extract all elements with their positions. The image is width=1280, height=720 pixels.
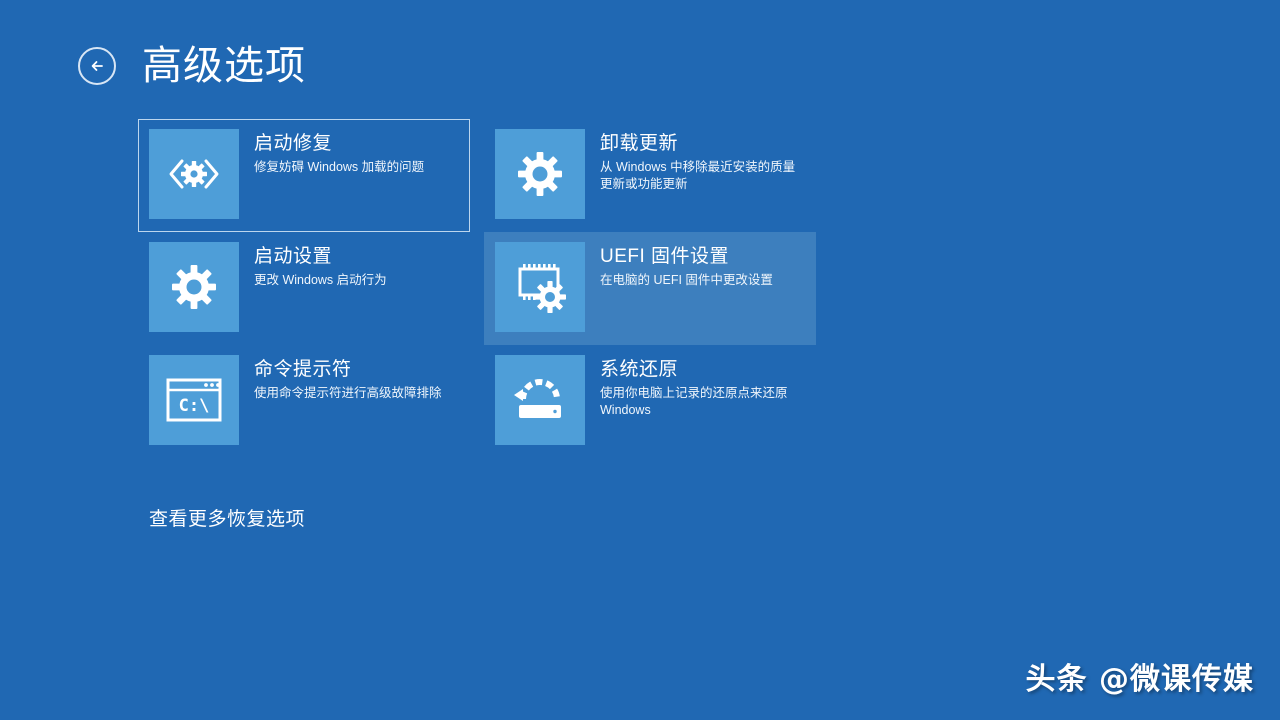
system-restore-icon [512,375,568,425]
svg-text:C:\: C:\ [179,396,210,416]
uefi-firmware-icon [512,259,568,315]
tile-text: 命令提示符 使用命令提示符进行高级故障排除 [254,355,442,402]
startup-repair-icon [166,154,222,194]
more-recovery-options-link[interactable]: 查看更多恢复选项 [149,504,305,531]
tile-text: 卸载更新 从 Windows 中移除最近安装的质量更新或功能更新 [600,129,805,193]
tile-title: UEFI 固件设置 [600,245,773,269]
tile-icon-wrap [495,129,585,219]
page-header: 高级选项 [78,36,306,96]
tile-system-restore[interactable]: 系统还原 使用你电脑上记录的还原点来还原 Windows [484,345,816,458]
tile-uninstall-updates[interactable]: 卸载更新 从 Windows 中移除最近安装的质量更新或功能更新 [484,119,816,232]
tile-description: 修复妨碍 Windows 加载的问题 [254,159,424,176]
tile-text: UEFI 固件设置 在电脑的 UEFI 固件中更改设置 [600,242,773,289]
tile-text: 启动修复 修复妨碍 Windows 加载的问题 [254,129,424,176]
tile-description: 使用你电脑上记录的还原点来还原 Windows [600,385,805,419]
tile-row: C:\ 命令提示符 使用命令提示符进行高级故障排除 [138,345,828,458]
tile-description: 在电脑的 UEFI 固件中更改设置 [600,272,773,289]
watermark: 头条 @微课传媒 [1026,654,1254,698]
options-grid: 启动修复 修复妨碍 Windows 加载的问题 [138,119,828,458]
tile-command-prompt[interactable]: C:\ 命令提示符 使用命令提示符进行高级故障排除 [138,345,470,458]
tile-title: 启动修复 [254,132,424,156]
command-prompt-icon: C:\ [165,377,223,423]
tile-startup-settings[interactable]: 启动设置 更改 Windows 启动行为 [138,232,470,345]
tile-description: 更改 Windows 启动行为 [254,272,387,289]
tile-text: 启动设置 更改 Windows 启动行为 [254,242,387,289]
tile-icon-wrap [495,242,585,332]
tile-row: 启动修复 修复妨碍 Windows 加载的问题 [138,119,828,232]
tile-startup-repair[interactable]: 启动修复 修复妨碍 Windows 加载的问题 [138,119,470,232]
advanced-options-screen: 高级选项 [0,0,1280,720]
tile-title: 卸载更新 [600,132,805,156]
tile-text: 系统还原 使用你电脑上记录的还原点来还原 Windows [600,355,805,419]
tile-icon-wrap [149,129,239,219]
tile-description: 使用命令提示符进行高级故障排除 [254,385,442,402]
tile-icon-wrap: C:\ [149,355,239,445]
tile-icon-wrap [495,355,585,445]
back-button[interactable] [78,47,116,85]
tile-title: 系统还原 [600,358,805,382]
tile-uefi-firmware-settings[interactable]: UEFI 固件设置 在电脑的 UEFI 固件中更改设置 [484,232,816,345]
page-title: 高级选项 [142,46,306,86]
tile-row: 启动设置 更改 Windows 启动行为 [138,232,828,345]
tile-title: 启动设置 [254,245,387,269]
tile-icon-wrap [149,242,239,332]
back-arrow-icon [87,56,107,76]
tile-description: 从 Windows 中移除最近安装的质量更新或功能更新 [600,159,805,193]
gear-icon [515,149,565,199]
tile-title: 命令提示符 [254,358,442,382]
gear-icon [169,262,219,312]
